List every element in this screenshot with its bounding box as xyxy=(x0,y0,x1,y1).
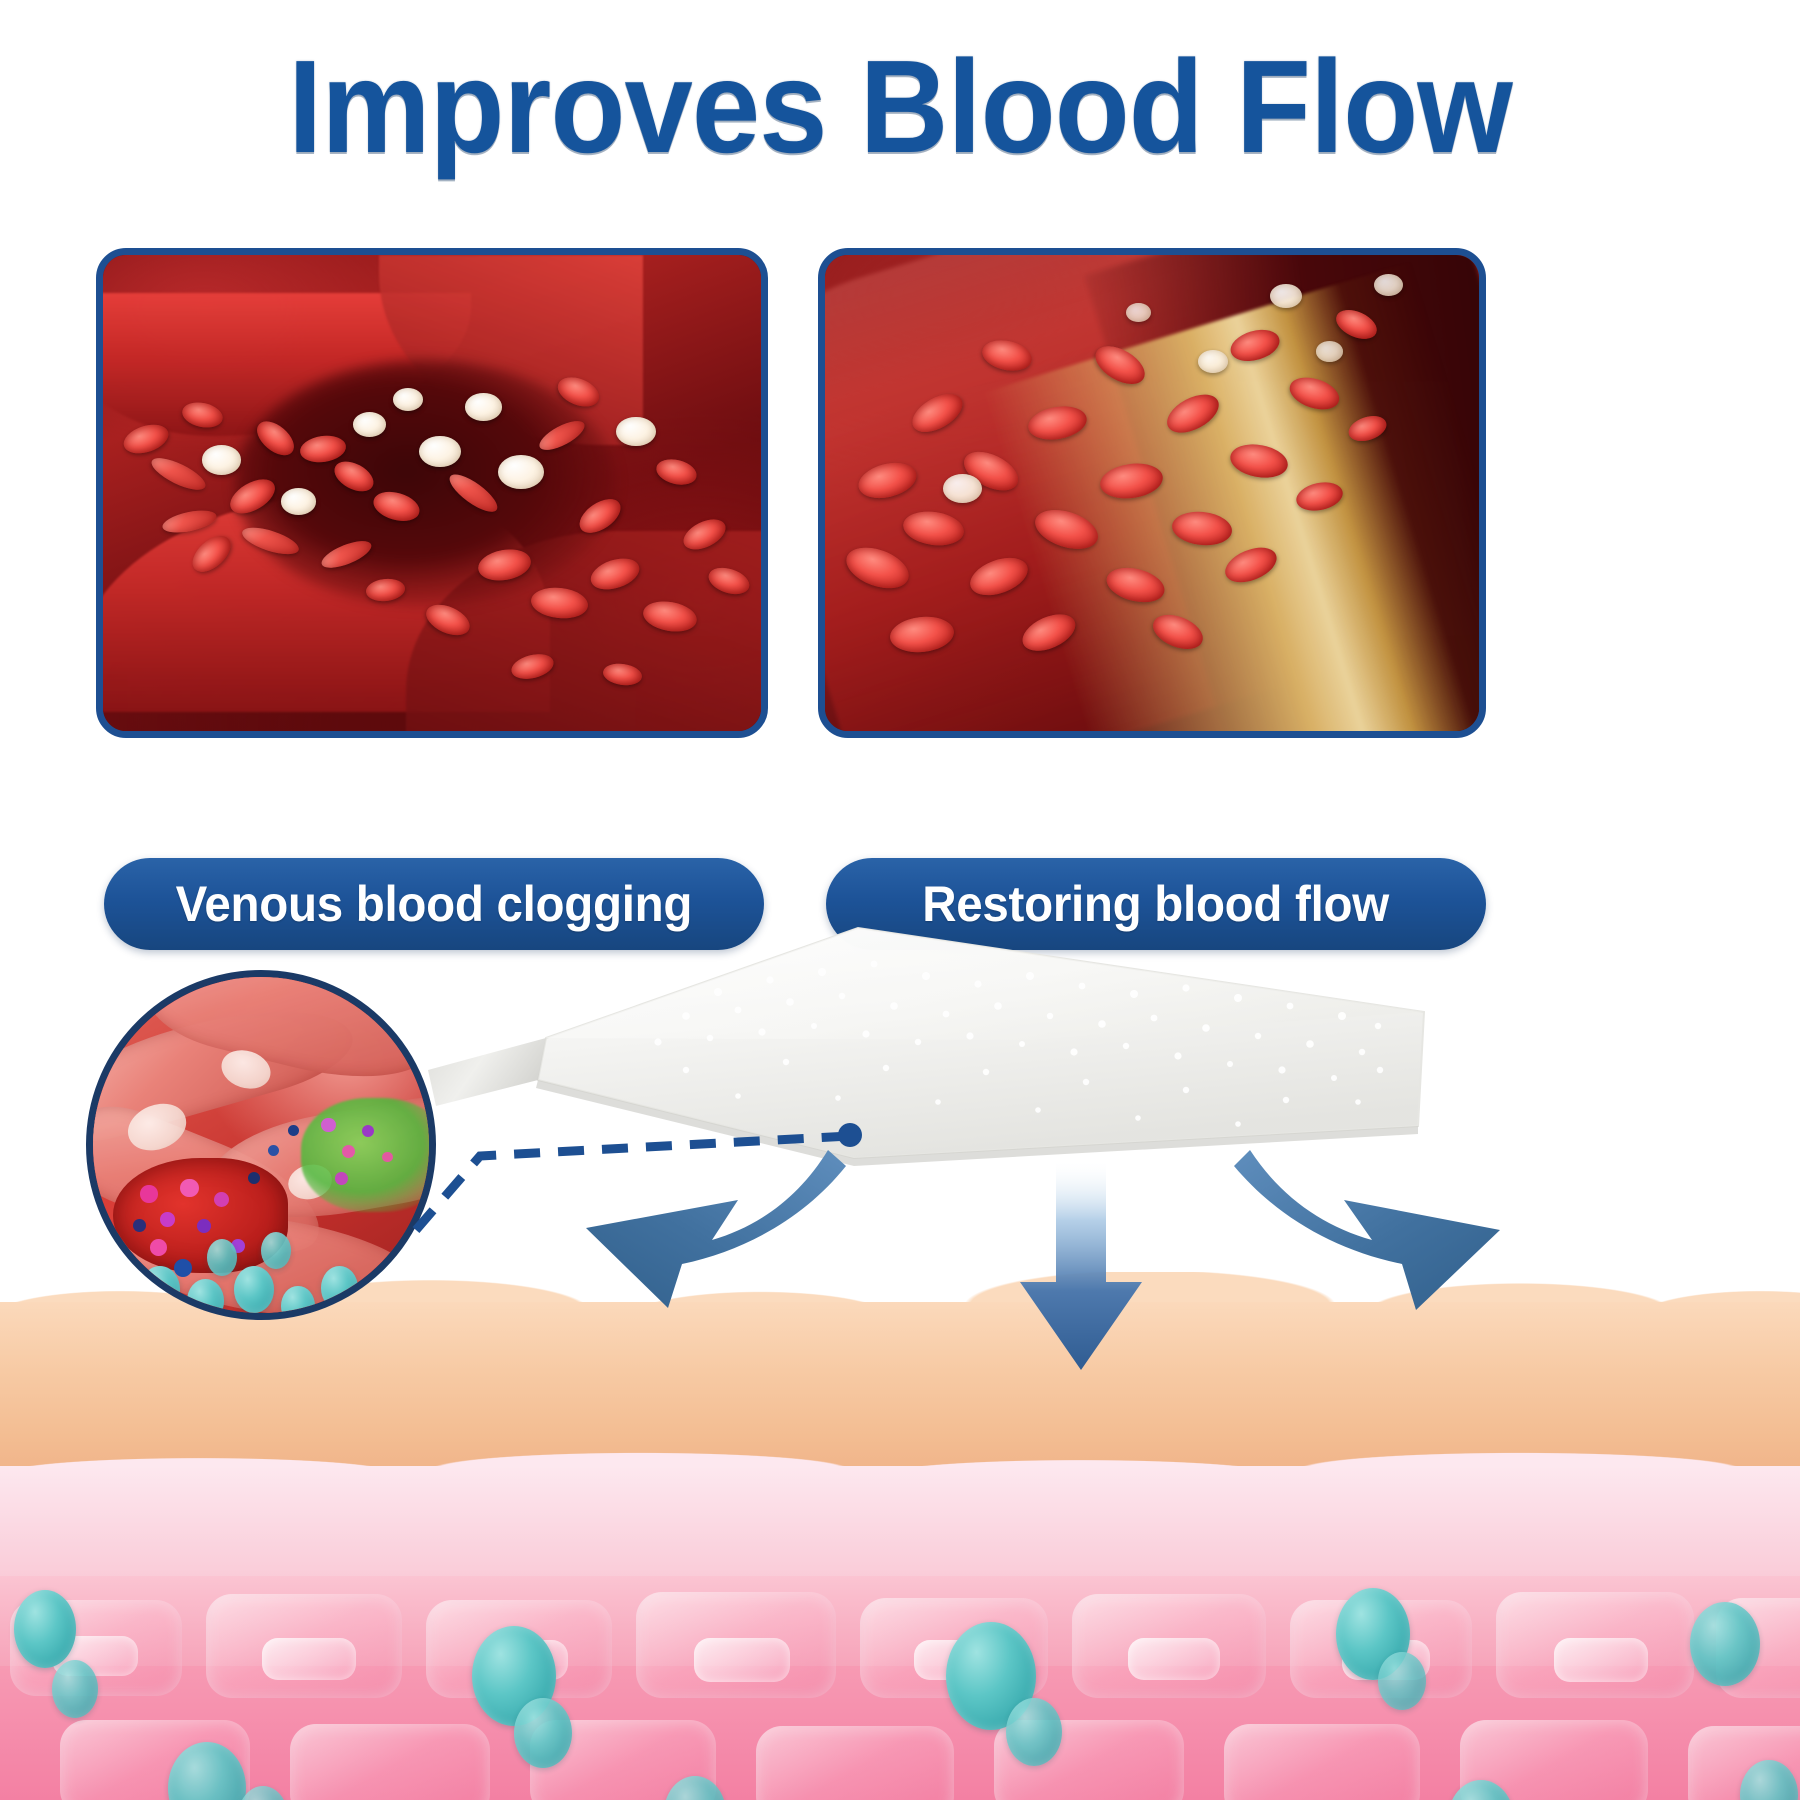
absorption-diagram xyxy=(0,900,1800,1800)
comparison-panel-after xyxy=(818,248,1486,738)
connector-endpoint-dot xyxy=(838,1123,862,1147)
comparison-panel-before xyxy=(96,248,768,738)
flowing-vein-image xyxy=(825,255,1479,731)
skin-layer-epidermis xyxy=(0,1302,1800,1474)
page-title: Improves Blood Flow xyxy=(63,38,1737,177)
inset-connector-line xyxy=(380,1000,940,1240)
clogged-vein-image xyxy=(103,255,761,731)
skin-layer-upper-dermis xyxy=(0,1466,1800,1588)
infographic-canvas: Improves Blood Flow xyxy=(0,0,1800,1800)
